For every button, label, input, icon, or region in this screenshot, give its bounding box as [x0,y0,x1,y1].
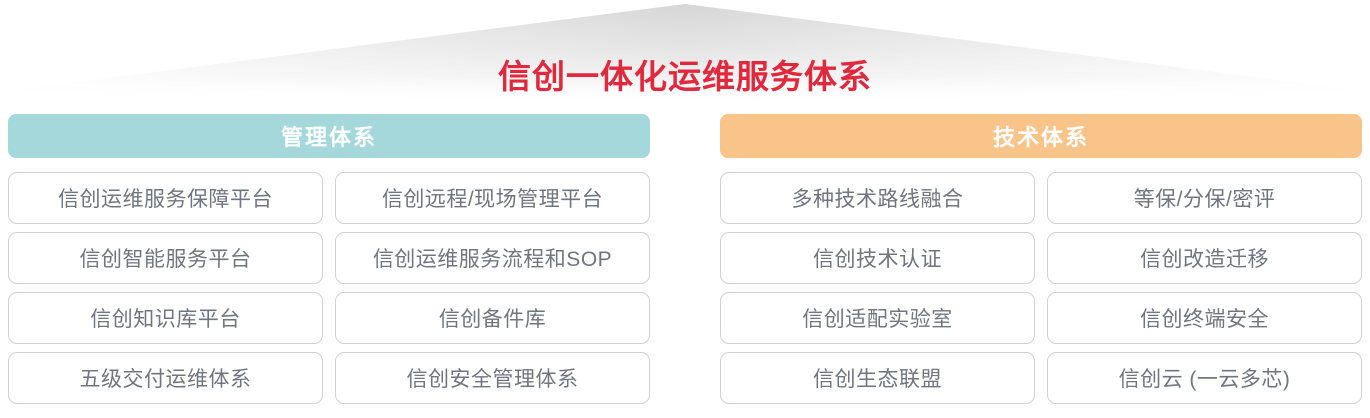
list-item[interactable]: 信创适配实验室 [720,292,1035,344]
list-item[interactable]: 信创运维服务保障平台 [8,172,323,224]
list-item[interactable]: 信创远程/现场管理平台 [335,172,650,224]
list-item[interactable]: 信创运维服务流程和SOP [335,232,650,284]
list-item[interactable]: 信创云 (一云多芯) [1047,352,1362,404]
list-item[interactable]: 等保/分保/密评 [1047,172,1362,224]
list-item[interactable]: 信创智能服务平台 [8,232,323,284]
panel-header-technology: 技术体系 [720,114,1362,158]
list-item[interactable]: 信创备件库 [335,292,650,344]
panel-technology: 技术体系 多种技术路线融合 等保/分保/密评 信创技术认证 信创改造迁移 信创适… [720,114,1362,404]
panel-management: 管理体系 信创运维服务保障平台 信创远程/现场管理平台 信创智能服务平台 信创运… [8,114,650,404]
diagram-canvas: 信创一体化运维服务体系 管理体系 信创运维服务保障平台 信创远程/现场管理平台 … [0,0,1370,418]
panel-grid-management: 信创运维服务保障平台 信创远程/现场管理平台 信创智能服务平台 信创运维服务流程… [8,172,650,404]
list-item[interactable]: 信创改造迁移 [1047,232,1362,284]
list-item[interactable]: 多种技术路线融合 [720,172,1035,224]
systems-container: 管理体系 信创运维服务保障平台 信创远程/现场管理平台 信创智能服务平台 信创运… [0,114,1370,404]
list-item[interactable]: 信创技术认证 [720,232,1035,284]
list-item[interactable]: 信创知识库平台 [8,292,323,344]
panel-header-management: 管理体系 [8,114,650,158]
list-item[interactable]: 信创安全管理体系 [335,352,650,404]
list-item[interactable]: 信创终端安全 [1047,292,1362,344]
panel-grid-technology: 多种技术路线融合 等保/分保/密评 信创技术认证 信创改造迁移 信创适配实验室 … [720,172,1362,404]
page-title: 信创一体化运维服务体系 [0,56,1370,98]
list-item[interactable]: 信创生态联盟 [720,352,1035,404]
list-item[interactable]: 五级交付运维体系 [8,352,323,404]
